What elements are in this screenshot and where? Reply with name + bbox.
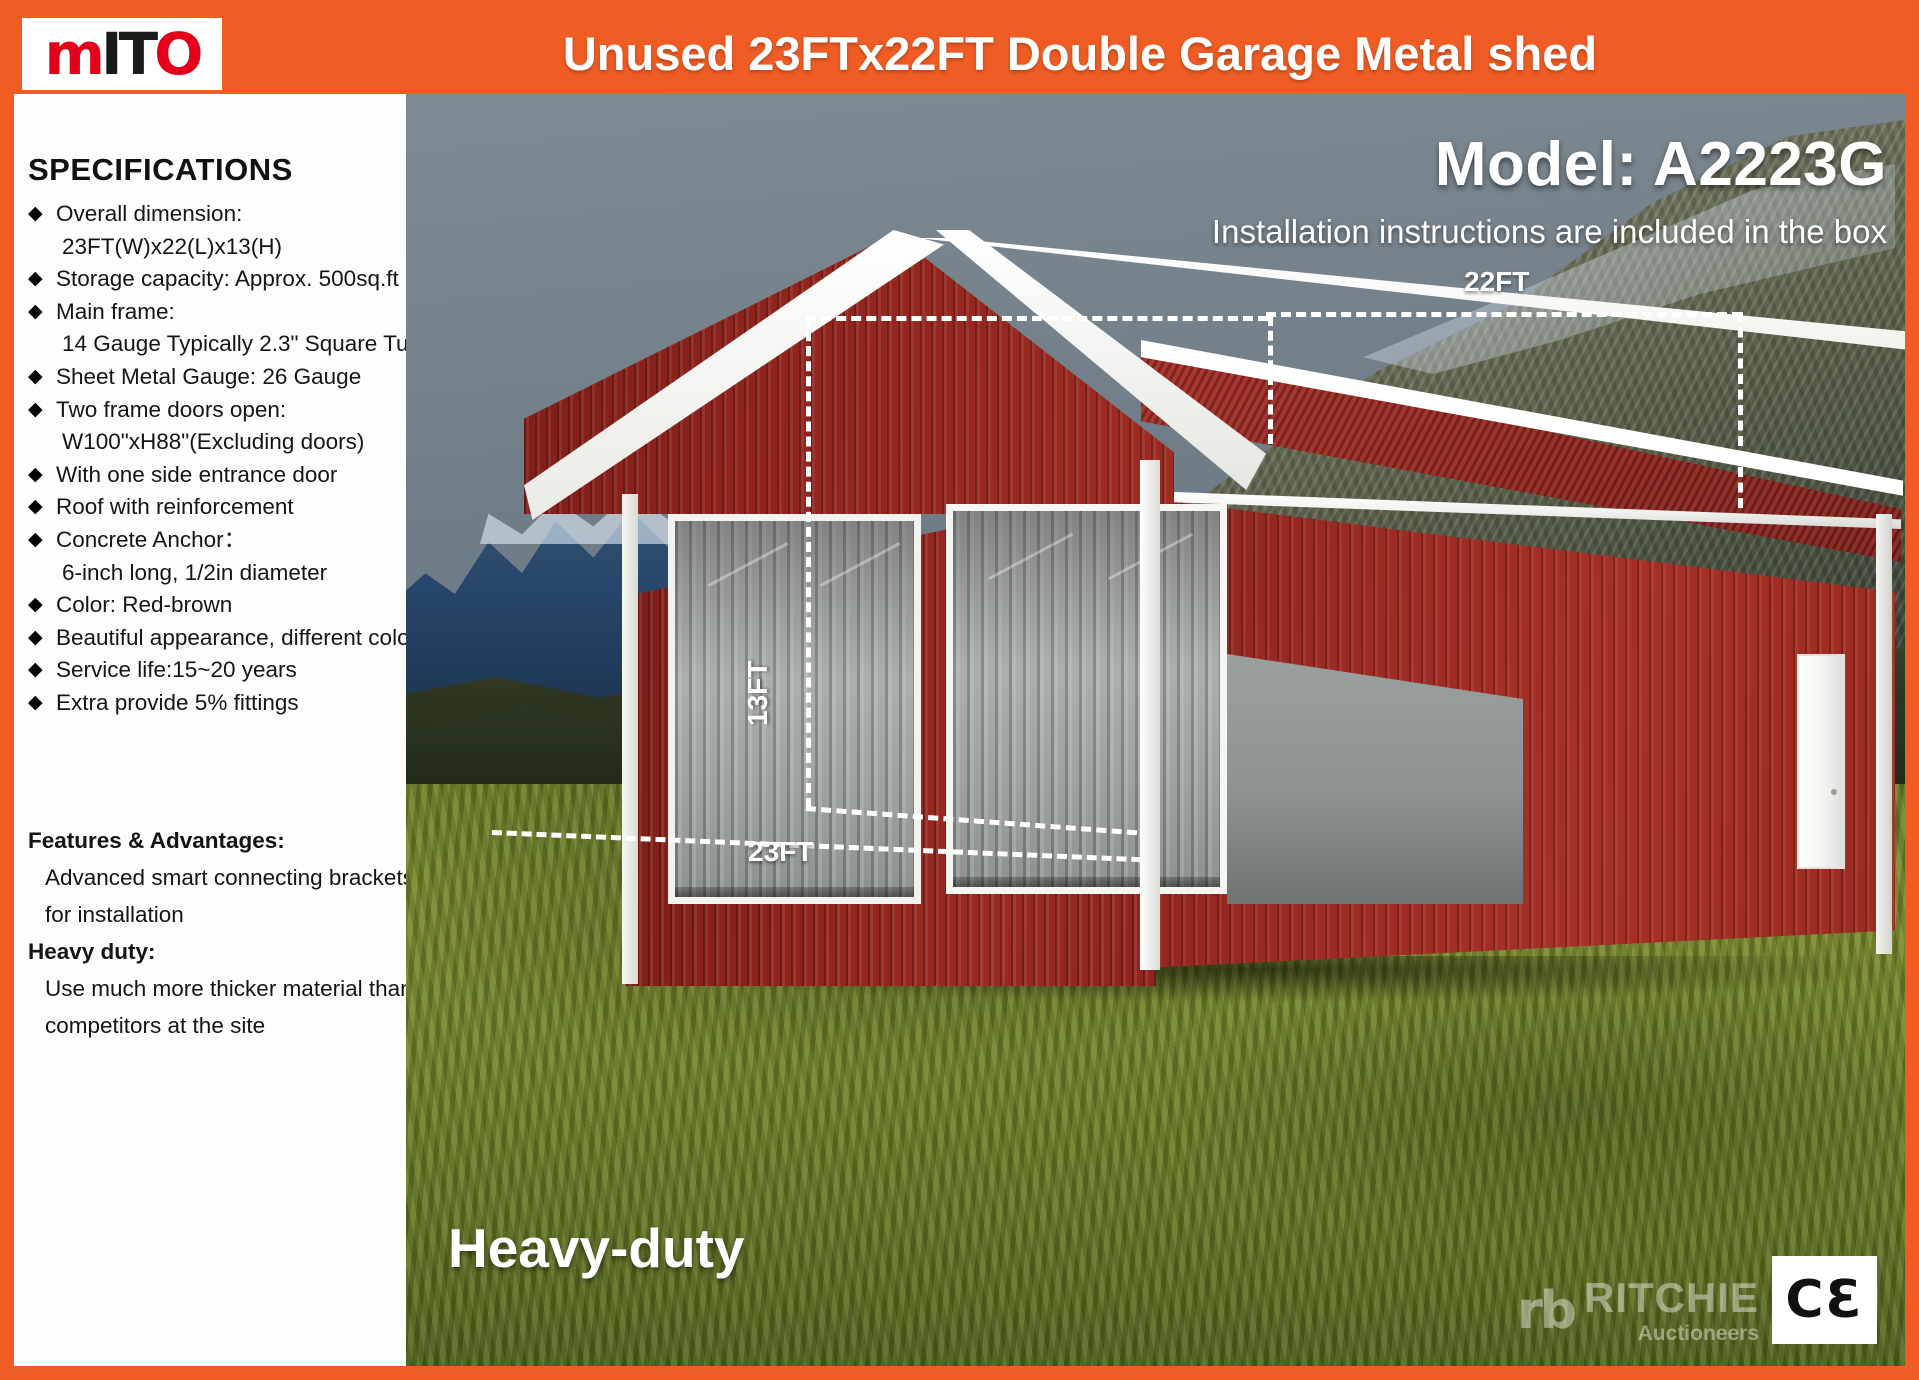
spec-item-label: Service life:15~20 years — [56, 657, 297, 682]
features-heading: Features & Advantages: — [28, 822, 408, 859]
specifications-panel: SPECIFICATIONS ◆Overall dimension: 23FT(… — [14, 94, 406, 1366]
door-inner-shadow — [675, 521, 914, 679]
diamond-bullet-icon: ◆ — [28, 263, 43, 296]
rb-logo-icon: rb — [1517, 1285, 1574, 1337]
diamond-bullet-icon: ◆ — [28, 491, 43, 524]
spec-item-label: With one side entrance door — [56, 462, 337, 487]
model-label: Model: A2223G — [1212, 128, 1887, 202]
spec-item-label: 6-inch long, 1/2in diameter — [62, 560, 327, 585]
spec-item-sub: 6-inch long, 1/2in diameter — [28, 557, 406, 590]
door-inner-shadow — [953, 511, 1220, 669]
installation-note: Installation instructions are included i… — [1212, 206, 1887, 258]
spec-item-label: Roof with reinforcement — [56, 494, 294, 519]
spec-item: ◆Overall dimension: — [28, 198, 406, 231]
spec-item-label: Concrete Anchor： — [56, 527, 246, 552]
spec-item-label: Color: Red-brown — [56, 592, 232, 617]
content-area: SPECIFICATIONS ◆Overall dimension: 23FT(… — [14, 94, 1905, 1366]
side-entrance-door — [1797, 654, 1845, 869]
heavy-duty-caption: Heavy-duty — [448, 1216, 744, 1280]
spec-item-sub: W100"xH88"(Excluding doors) — [28, 426, 406, 459]
page-title: Unused 23FTx22FT Double Garage Metal she… — [260, 12, 1900, 96]
spec-item: ◆Color: Red-brown — [28, 589, 406, 622]
spec-item-label: Storage capacity: Approx. 500sq.ft — [56, 266, 399, 291]
garage-door-opening-right — [946, 504, 1227, 894]
spec-item-label: Overall dimension: — [56, 201, 242, 226]
brand-logo: mITO — [22, 18, 222, 90]
features-line-1: Advanced smart connecting brackets easy — [28, 859, 408, 896]
ce-mark-icon: CƐ — [1785, 1270, 1863, 1330]
spec-item: ◆Concrete Anchor： — [28, 524, 406, 557]
spec-item-label: 23FT(W)x22(L)x13(H) — [62, 234, 282, 259]
diamond-bullet-icon: ◆ — [28, 296, 43, 329]
spec-item: ◆Beautiful appearance, different colors — [28, 622, 406, 655]
dimension-label-depth: 23FT — [748, 836, 813, 868]
heavy-duty-line-2: competitors at the site — [28, 1007, 408, 1044]
model-block: Model: A2223G Installation instructions … — [1212, 128, 1887, 258]
door-floor-line — [953, 877, 1220, 887]
dimension-line-height-left — [806, 316, 811, 808]
diamond-bullet-icon: ◆ — [28, 589, 43, 622]
diamond-bullet-icon: ◆ — [28, 361, 43, 394]
spec-item: ◆With one side entrance door — [28, 459, 406, 492]
dimension-line-peak-drop — [1268, 316, 1273, 444]
logo-letter-o: O — [154, 25, 199, 83]
metal-shed-illustration — [406, 94, 1905, 1366]
spec-item-label: 14 Gauge Typically 2.3" Square Tube — [62, 331, 434, 356]
spec-item-label: Sheet Metal Gauge: 26 Gauge — [56, 364, 361, 389]
spec-item: ◆Extra provide 5% fittings — [28, 687, 406, 720]
spec-item-label: Two frame doors open: — [56, 397, 286, 422]
spec-item-label: Beautiful appearance, different colors — [56, 625, 428, 650]
spec-item: ◆Service life:15~20 years — [28, 654, 406, 687]
ritchie-bros-watermark: rb RITCHIE Auctioneers — [1517, 1277, 1759, 1344]
diamond-bullet-icon: ◆ — [28, 524, 43, 557]
diamond-bullet-icon: ◆ — [28, 622, 43, 655]
spec-item: ◆Roof with reinforcement — [28, 491, 406, 524]
dimension-line-width-top — [806, 316, 1268, 321]
specifications-heading: SPECIFICATIONS — [28, 152, 406, 188]
features-advantages-block: Features & Advantages: Advanced smart co… — [28, 822, 408, 1044]
diamond-bullet-icon: ◆ — [28, 394, 43, 427]
spec-item: ◆Sheet Metal Gauge: 26 Gauge — [28, 361, 406, 394]
watermark-subtitle: Auctioneers — [1584, 1323, 1759, 1344]
dimension-line-width-right-drop — [1738, 312, 1743, 508]
watermark-name: RITCHIE — [1584, 1277, 1759, 1319]
shed-corner-post-left — [622, 494, 638, 984]
diamond-bullet-icon: ◆ — [28, 654, 43, 687]
watermark-text: RITCHIE Auctioneers — [1584, 1277, 1759, 1344]
ad-page: mITO Unused 23FTx22FT Double Garage Meta… — [0, 0, 1919, 1380]
ce-mark-badge: CƐ — [1772, 1256, 1877, 1344]
door-floor-line — [675, 887, 914, 897]
logo-letter-m: m — [45, 25, 101, 83]
features-line-2: for installation — [28, 896, 408, 933]
logo-wordmark: mITO — [45, 25, 200, 83]
spec-item: ◆Storage capacity: Approx. 500sq.ft — [28, 263, 406, 296]
door-knob-icon — [1831, 789, 1837, 795]
spec-item-label: Main frame: — [56, 299, 175, 324]
diamond-bullet-icon: ◆ — [28, 687, 43, 720]
spec-item-label: W100"xH88"(Excluding doors) — [62, 429, 364, 454]
specifications-list: ◆Overall dimension: 23FT(W)x22(L)x13(H) … — [28, 198, 406, 720]
spec-item-label: Extra provide 5% fittings — [56, 690, 299, 715]
dimension-label-width: 22FT — [1464, 266, 1529, 298]
heavy-duty-line-1: Use much more thicker material than othe… — [28, 970, 408, 1007]
spec-item-sub: 23FT(W)x22(L)x13(H) — [28, 231, 406, 264]
logo-letter-it: IT — [101, 25, 154, 83]
shed-corner-post-far-right — [1876, 514, 1892, 954]
heavy-duty-heading: Heavy duty: — [28, 933, 408, 970]
diamond-bullet-icon: ◆ — [28, 198, 43, 231]
spec-item: ◆Two frame doors open: — [28, 394, 406, 427]
diamond-bullet-icon: ◆ — [28, 459, 43, 492]
shed-corner-post-center — [1140, 460, 1160, 970]
dimension-label-height: 13FT — [742, 661, 774, 726]
spec-item: ◆Main frame: — [28, 296, 406, 329]
dimension-line-width — [1266, 312, 1742, 317]
spec-item-sub: 14 Gauge Typically 2.3" Square Tube — [28, 328, 406, 361]
product-photo: 22FT 13FT 23FT Model: A2223G Installatio… — [406, 94, 1905, 1366]
